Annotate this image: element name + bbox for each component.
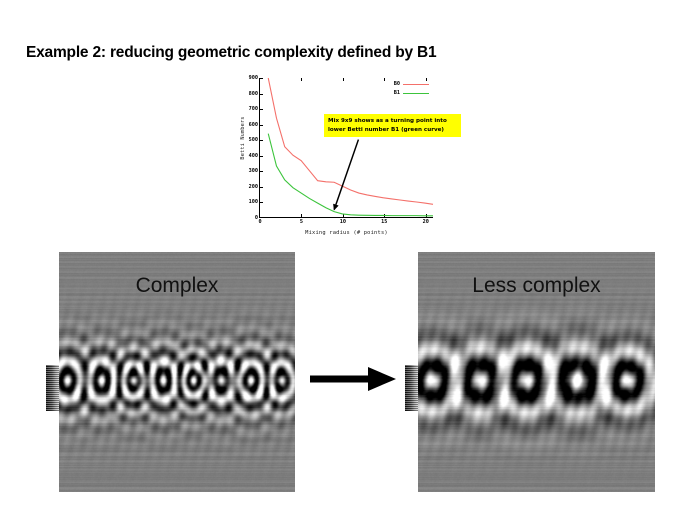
color-bar-left-gradient [46, 365, 59, 411]
x-tick-label: 20 [423, 219, 429, 225]
slide-canvas: Example 2: reducing geometric complexity… [0, 0, 692, 519]
seismic-image-complex: Complex [59, 252, 295, 492]
chart-y-axis-label: Betti Numbers [240, 102, 246, 174]
y-tick-label: 400 [249, 153, 258, 159]
chart-plot-area: 0100200300400500600700800900 05101520 B0… [259, 78, 433, 218]
legend-label: B1 [390, 90, 400, 96]
color-bar-right [405, 365, 418, 411]
color-bar-left [46, 365, 59, 411]
x-tick-label: 10 [340, 219, 346, 225]
seismic-image-less-complex: Less complex [418, 252, 655, 492]
x-tick-label: 5 [300, 219, 303, 225]
y-tick-label: 600 [249, 122, 258, 128]
chart-series-b0 [268, 78, 433, 204]
y-tick-label: 700 [249, 106, 258, 112]
y-tick-label: 900 [249, 75, 258, 81]
y-tick-label: 200 [249, 184, 258, 190]
page-title: Example 2: reducing geometric complexity… [26, 44, 666, 62]
chart-x-axis-label: Mixing radius (# points) [259, 230, 434, 236]
chart-series-b1 [268, 134, 433, 216]
legend-swatch [403, 93, 429, 94]
chart-annotation-callout: Mix 9x9 shows as a turning point into lo… [324, 114, 461, 137]
legend-swatch [403, 84, 429, 85]
y-tick-label: 300 [249, 168, 258, 174]
betti-numbers-chart: Betti Numbers Mixing radius (# points) 0… [231, 73, 439, 245]
y-tick-label: 100 [249, 199, 258, 205]
legend-item-b0: B0 [390, 81, 429, 87]
chart-legend: B0B1 [390, 81, 429, 96]
chart-series-svg [260, 78, 433, 217]
panel-label-less-complex: Less complex [418, 274, 655, 298]
color-bar-right-gradient [405, 365, 418, 411]
panel-label-complex: Complex [59, 274, 295, 298]
y-tick-label: 500 [249, 137, 258, 143]
x-tick-label: 0 [258, 219, 261, 225]
legend-label: B0 [390, 81, 400, 87]
legend-item-b1: B1 [390, 90, 429, 96]
y-tick-label: 800 [249, 91, 258, 97]
x-tick-label: 15 [381, 219, 387, 225]
right-arrow-icon [310, 364, 398, 394]
